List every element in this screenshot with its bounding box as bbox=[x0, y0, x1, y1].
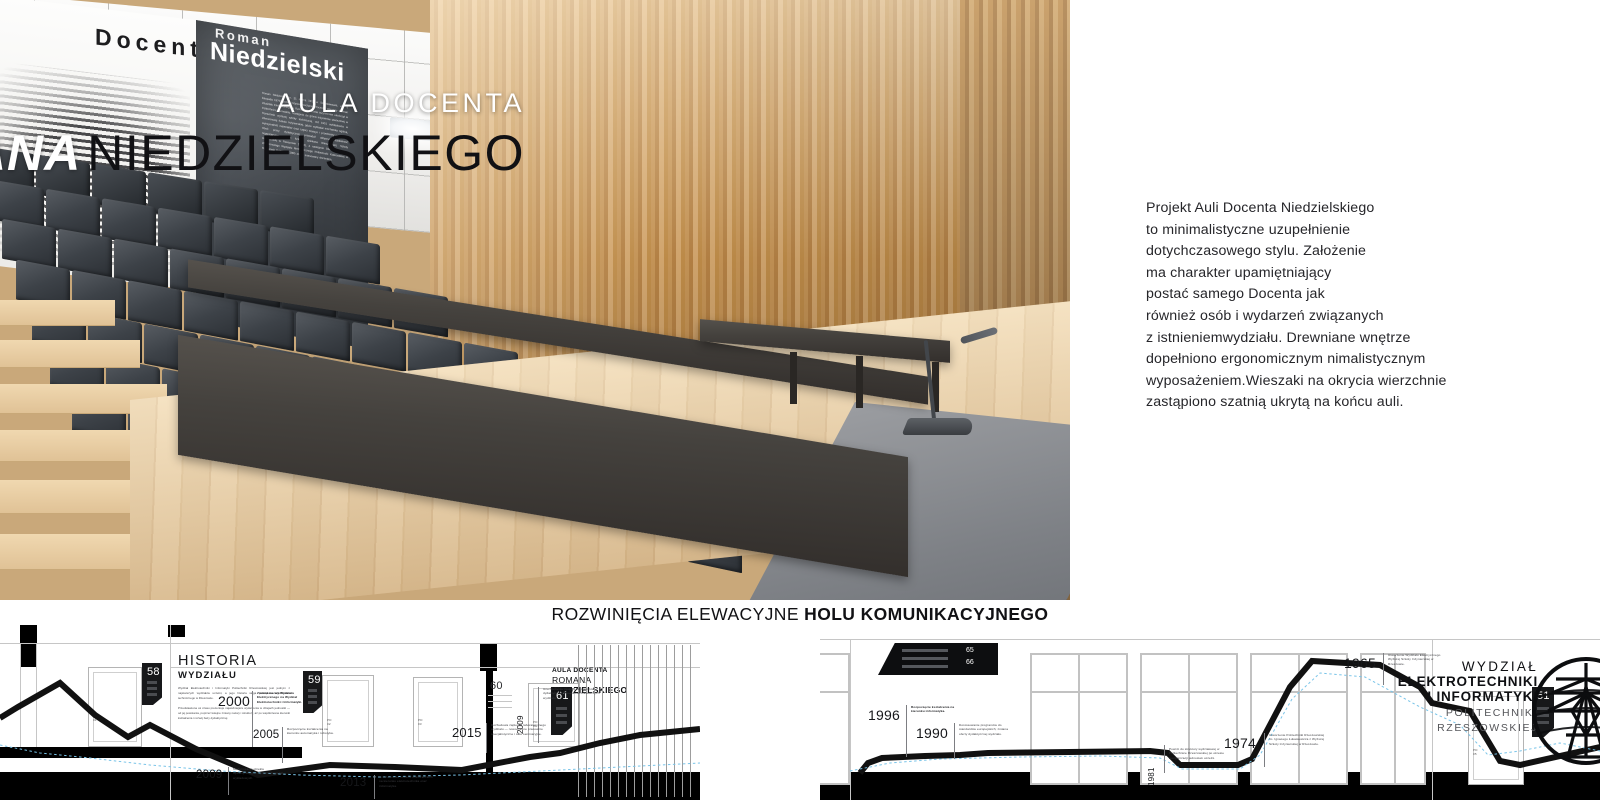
timeline-note-2009b: Modernizacja obiektu dydaktycznego — prz… bbox=[233, 767, 285, 780]
seat bbox=[352, 322, 406, 372]
right-elevation-drawing: 65 66 bbox=[820, 625, 1600, 800]
timeline-year-1981-vertical: 1981 bbox=[1147, 767, 1156, 786]
timeline-note-2000: Zmiana nazwy Wydziału Elektrycznego na W… bbox=[257, 691, 313, 704]
desk-leg bbox=[790, 352, 797, 404]
timeline-year-1996: 1996 bbox=[868, 707, 900, 723]
timeline-note-2005: Rozpoczęcie kształcenia na kierunku auto… bbox=[287, 727, 339, 736]
section-heading-light: ROZWINIĘCIA ELEWACYJNE bbox=[552, 604, 799, 624]
faculty-logo-block: WYDZIAŁ ELEKTROTECHNIKI I INFORMATYKI PO… bbox=[1348, 659, 1538, 734]
timeline-note-2015: Rozbudowa zaplecza laboratoryjnego wydzi… bbox=[491, 723, 549, 736]
stair-step bbox=[0, 300, 115, 326]
timeline-year-2009b: 2009 bbox=[196, 769, 222, 781]
hero-text-column: Projekt Auli Docenta Niedzielskiego to m… bbox=[1070, 0, 1600, 600]
timeline-note-2013: Uruchomienie studiów doktoranckich na ki… bbox=[379, 775, 433, 788]
section-heading-bold: HOLU KOMUNIKACYJNEGO bbox=[804, 604, 1048, 624]
faculty-logo-line5: RZESZOWSKIEJ bbox=[1348, 722, 1538, 734]
timeline-note-1996: Rozpoczęcie kształcenia na kierunku info… bbox=[911, 705, 967, 714]
presentation-board: Docent Roman Niedzielski Roman Niedziels… bbox=[0, 0, 1600, 800]
timeline-note-1990: Dostosowanie programów do standardów eur… bbox=[959, 723, 1017, 736]
seat bbox=[2, 219, 56, 269]
timeline-year-1990: 1990 bbox=[916, 725, 948, 741]
leader-line bbox=[282, 727, 283, 763]
faculty-logo-line1: WYDZIAŁ bbox=[1348, 659, 1538, 674]
timeline-note-2009: Uruchomienie nowych laboratoriów dydakty… bbox=[543, 687, 601, 700]
left-elevation-drawing: PD01 PD02 PD03 PD04 58 59 bbox=[0, 625, 700, 800]
section-heading: ROZWINIĘCIA ELEWACYJNE HOLU KOMUNIKACYJN… bbox=[0, 604, 1600, 625]
leader-line bbox=[374, 775, 375, 799]
microphone-base bbox=[902, 418, 977, 435]
hero-description: Projekt Auli Docenta Niedzielskiego to m… bbox=[1146, 198, 1486, 414]
bottom-zone: ROZWINIĘCIA ELEWACYJNE HOLU KOMUNIKACYJN… bbox=[0, 600, 1600, 800]
leader-line bbox=[954, 723, 955, 759]
timeline-note-1981: Powrót do struktury wydziałowej w Polite… bbox=[1169, 747, 1227, 760]
leader-line bbox=[1164, 745, 1165, 773]
timeline-year-2000: 2000 bbox=[218, 693, 250, 709]
hero-title: ROMANANIEDZIELSKIEGO bbox=[0, 124, 525, 182]
timeline-year-1974: 1974 bbox=[1224, 735, 1256, 751]
faculty-logo-line2: ELEKTROTECHNIKI bbox=[1348, 674, 1538, 689]
desk-leg bbox=[856, 356, 863, 408]
leader-line bbox=[1264, 733, 1265, 767]
timeline-year-2015: 2015 bbox=[452, 725, 482, 740]
stair-step bbox=[0, 340, 140, 368]
leader-line bbox=[228, 767, 229, 795]
timeline-year-2013: 2013 bbox=[340, 777, 366, 789]
timeline-note-1974: Utworzenie Politechniki Rzeszowskiej im.… bbox=[1269, 733, 1327, 746]
hero-title-italic: ROMANA bbox=[0, 125, 87, 181]
faculty-logo-line4: POLITECHNIKI bbox=[1348, 707, 1538, 719]
leader-line bbox=[486, 723, 487, 753]
power-pylon-icon bbox=[1532, 653, 1600, 771]
timeline-year-2005: 2005 bbox=[253, 729, 279, 741]
top-zone: Docent Roman Niedzielski Roman Niedziels… bbox=[0, 0, 1600, 600]
leader-line bbox=[906, 705, 907, 757]
faculty-logo-line3: I INFORMATYKI bbox=[1348, 689, 1538, 704]
left-timeline-graphic bbox=[0, 625, 700, 800]
hero-title-rest: NIEDZIELSKIEGO bbox=[87, 125, 525, 181]
lecture-hall-photo: Docent Roman Niedzielski Roman Niedziels… bbox=[0, 0, 1070, 600]
